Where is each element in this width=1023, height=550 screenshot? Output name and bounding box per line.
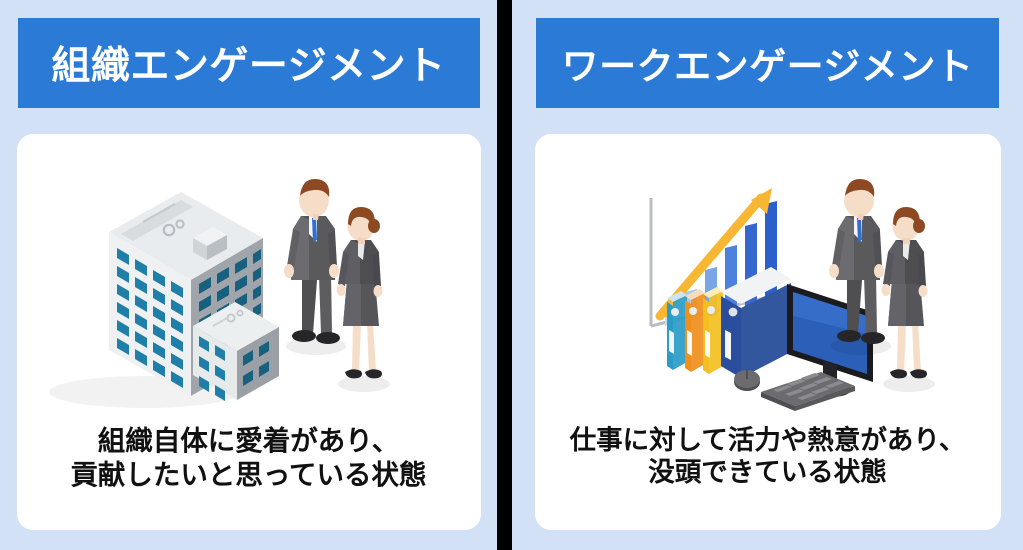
- caption-organizational-engagement: 組織自体に愛着があり、 貢献したいと思っている状態: [17, 424, 481, 491]
- caption-line-1: 組織自体に愛着があり、: [23, 424, 475, 458]
- caption-line-2: 没頭できている状態: [541, 456, 995, 488]
- keyboard: [761, 372, 855, 411]
- illustration-office-building-with-businesspeople: [17, 134, 481, 424]
- illustration-growth-chart-desk-with-businesspeople: [535, 134, 1001, 424]
- mouse: [734, 370, 760, 391]
- panel-title-work-engagement: ワークエンゲージメント: [536, 18, 999, 108]
- comparison-board: 組織エンゲージメント: [0, 0, 1023, 550]
- caption-line-2: 貢献したいと思っている状態: [23, 458, 475, 492]
- card-organizational-engagement: 組織自体に愛着があり、 貢献したいと思っている状態: [17, 134, 481, 530]
- caption-work-engagement: 仕事に対して活力や熱意があり、 没頭できている状態: [535, 424, 1001, 489]
- panel-organizational-engagement: 組織エンゲージメント: [0, 0, 497, 550]
- businesswoman-figure: [336, 207, 390, 392]
- panel-divider-gap: [497, 0, 512, 550]
- panel-title-organizational-engagement: 組織エンゲージメント: [18, 18, 480, 108]
- businessman-figure: [284, 179, 346, 355]
- caption-line-1: 仕事に対して活力や熱意があり、: [541, 424, 995, 456]
- businesswoman-shadow: [883, 376, 935, 392]
- panel-work-engagement: ワークエンゲージメント: [512, 0, 1023, 550]
- businesswoman-shadow: [338, 376, 390, 392]
- businesswoman-figure: [881, 207, 935, 392]
- card-work-engagement: 仕事に対して活力や熱意があり、 没頭できている状態: [535, 134, 1001, 530]
